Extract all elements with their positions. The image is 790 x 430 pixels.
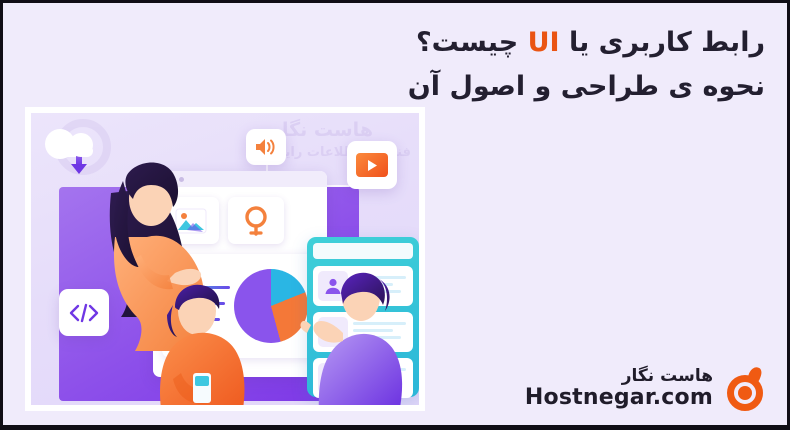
brand-text: هاست نگار Hostnegar.com bbox=[525, 367, 713, 411]
headline-line-2: نحوه ی طراحی و اصول آن bbox=[245, 65, 765, 109]
headline-line-1-before: رابط کاربری یا bbox=[560, 27, 765, 58]
speaker-icon bbox=[246, 129, 286, 165]
headline-block: رابط کاربری یا UI چیست؟ نحوه ی طراحی و ا… bbox=[245, 21, 765, 108]
watermark-top: هاست نگار bbox=[271, 119, 373, 141]
illustration-canvas: هاست نگار فناوری اطلاعات رایانگار هاست ن… bbox=[31, 113, 419, 405]
headline-line-1-after: چیست؟ bbox=[416, 27, 528, 58]
headline-accent-ui: UI bbox=[528, 27, 560, 58]
headline-line-1: رابط کاربری یا UI چیست؟ bbox=[245, 21, 765, 65]
person-man-purple bbox=[299, 265, 419, 405]
hostnegar-ring-logo-icon bbox=[725, 367, 769, 411]
promo-banner: رابط کاربری یا UI چیست؟ نحوه ی طراحی و ا… bbox=[3, 3, 787, 425]
brand-name-en: Hostnegar.com bbox=[525, 386, 713, 411]
brand-logo[interactable]: هاست نگار Hostnegar.com bbox=[525, 367, 769, 411]
person-man-orange bbox=[147, 281, 265, 405]
brand-name-fa: هاست نگار bbox=[525, 367, 713, 386]
illustration-card: هاست نگار فناوری اطلاعات رایانگار هاست ن… bbox=[25, 107, 425, 411]
location-pin-icon bbox=[228, 197, 284, 244]
search-field-mock bbox=[313, 243, 413, 259]
play-video-icon bbox=[347, 141, 397, 189]
